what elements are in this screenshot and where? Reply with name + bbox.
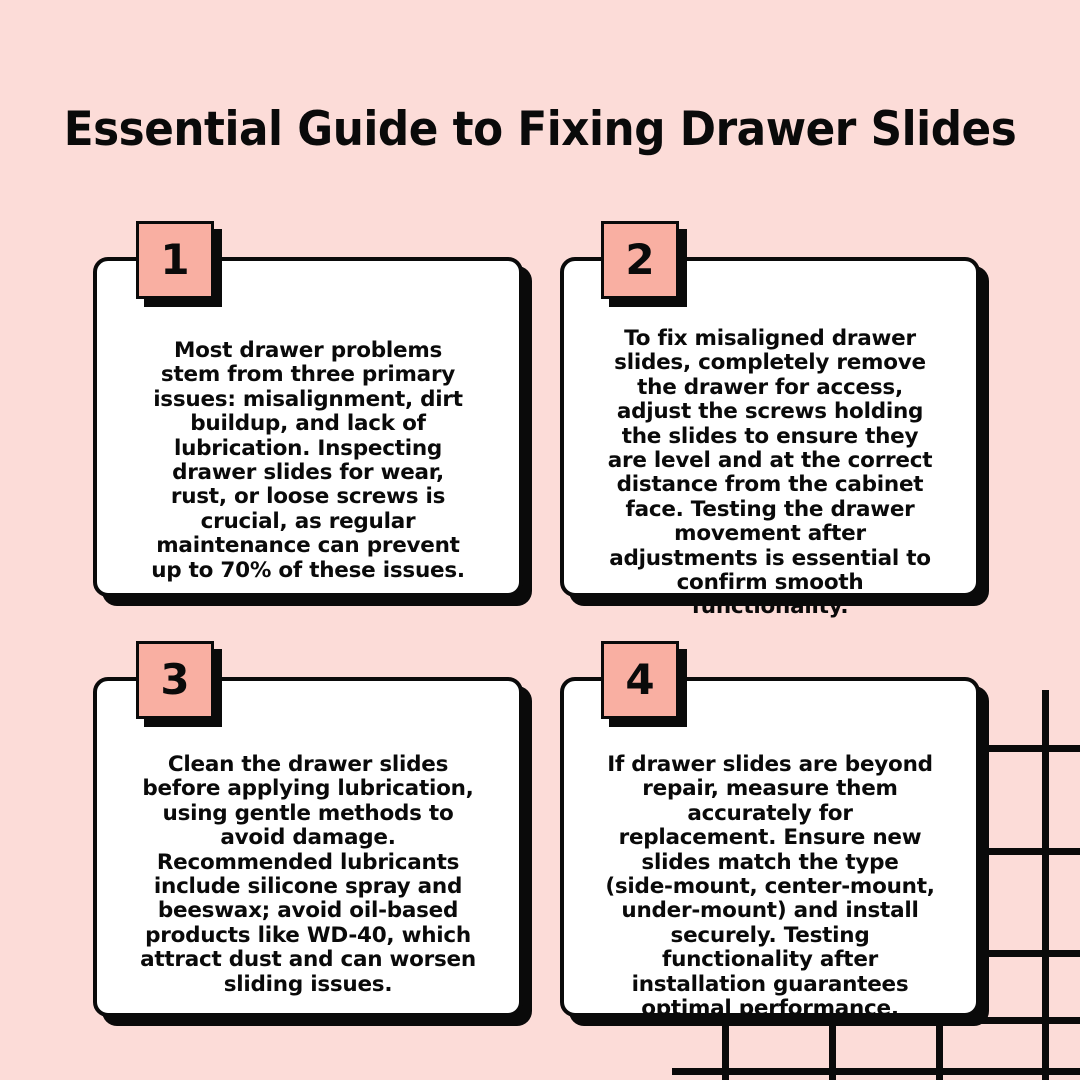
grid-hline-3: [988, 950, 1080, 957]
step-card-2-text: To fix misaligned drawer slides, complet…: [605, 327, 935, 620]
grid-vline-4: [722, 1017, 729, 1080]
grid-hline-5: [672, 1068, 1080, 1075]
grid-vline-2: [936, 1017, 943, 1080]
step-card-2: To fix misaligned drawer slides, complet…: [560, 257, 980, 597]
step-card-3-text: Clean the drawer slides before applying …: [138, 753, 478, 997]
grid-vline-1: [1042, 690, 1049, 1080]
step-card-3: Clean the drawer slides before applying …: [93, 677, 523, 1017]
grid-hline-1: [988, 745, 1080, 752]
step-badge-2: 2: [601, 221, 679, 299]
step-card-1-text: Most drawer problems stem from three pri…: [147, 339, 469, 583]
infographic-canvas: Essential Guide to Fixing Drawer Slides …: [0, 0, 1080, 1080]
step-badge-3: 3: [136, 641, 214, 719]
step-card-4-text: If drawer slides are beyond repair, meas…: [605, 753, 935, 1021]
step-badge-1: 1: [136, 221, 214, 299]
grid-hline-2: [988, 848, 1080, 855]
grid-vline-3: [829, 1017, 836, 1080]
step-card-1: Most drawer problems stem from three pri…: [93, 257, 523, 597]
page-title: Essential Guide to Fixing Drawer Slides: [38, 104, 1042, 156]
step-card-4: If drawer slides are beyond repair, meas…: [560, 677, 980, 1017]
step-badge-4: 4: [601, 641, 679, 719]
